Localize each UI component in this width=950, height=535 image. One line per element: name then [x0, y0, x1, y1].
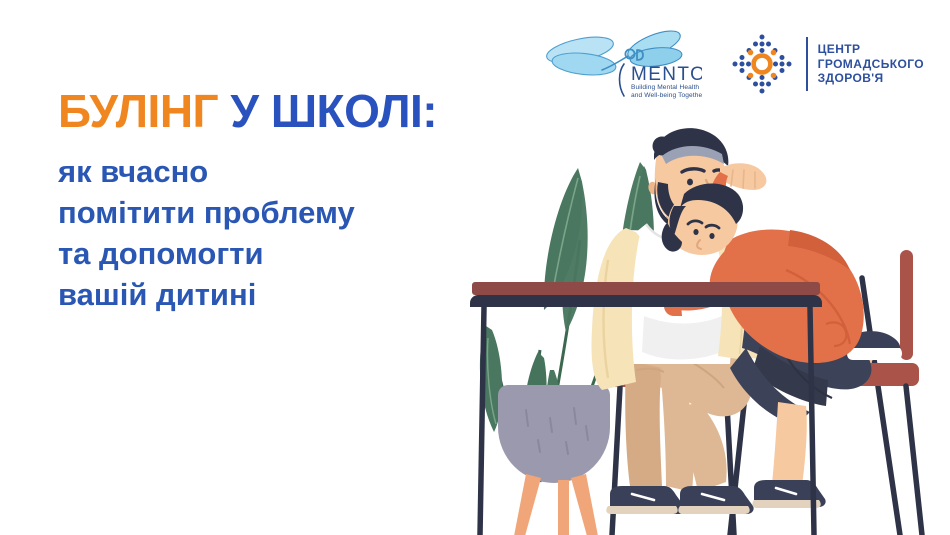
- subtitle-line-1: як вчасно: [58, 152, 355, 193]
- logo-divider: [806, 37, 808, 91]
- dot-diamond-icon: [728, 30, 796, 98]
- subtitle-line-3: та допомогти: [58, 234, 355, 275]
- subtitle-line-2: помітити проблему: [58, 193, 355, 234]
- cph-line-1: ЦЕНТР: [818, 42, 924, 57]
- mentor-wordmark: MENTOR: [631, 64, 702, 85]
- mentor-tagline-line2: and Well-being Together: [631, 92, 702, 99]
- cph-line-2: ГРОМАДСЬКОГО: [818, 57, 924, 72]
- public-health-center-text: ЦЕНТР ГРОМАДСЬКОГО ЗДОРОВ'Я: [818, 42, 924, 86]
- subtitle-line-4: вашій дитині: [58, 275, 355, 316]
- pot-leg: [558, 480, 569, 535]
- plant-pot: [498, 385, 610, 483]
- page-title: БУЛІНГ У ШКОЛІ:: [58, 88, 437, 134]
- title-part-at-school: У ШКОЛІ:: [230, 85, 437, 137]
- mentor-tagline-line1: Building Mental Health: [631, 84, 699, 91]
- poster-banner: MENTOR Building Mental Health and Well-b…: [0, 0, 950, 535]
- cph-line-3: ЗДОРОВ'Я: [818, 71, 924, 86]
- mentor-logo[interactable]: MENTOR Building Mental Health and Well-b…: [532, 28, 702, 100]
- page-subtitle: як вчасно помітити проблему та допомогти…: [58, 152, 355, 316]
- logo-row: MENTOR Building Mental Health and Well-b…: [532, 28, 924, 100]
- pot-leg: [514, 474, 541, 535]
- illustration-father-and-child: [430, 120, 950, 535]
- pot-leg: [571, 474, 598, 535]
- public-health-center-logo[interactable]: ЦЕНТР ГРОМАДСЬКОГО ЗДОРОВ'Я: [728, 30, 924, 98]
- title-part-bullying: БУЛІНГ: [58, 85, 218, 137]
- mentor-dragonfly-icon: MENTOR Building Mental Health and Well-b…: [532, 28, 702, 100]
- desk-top: [472, 282, 820, 295]
